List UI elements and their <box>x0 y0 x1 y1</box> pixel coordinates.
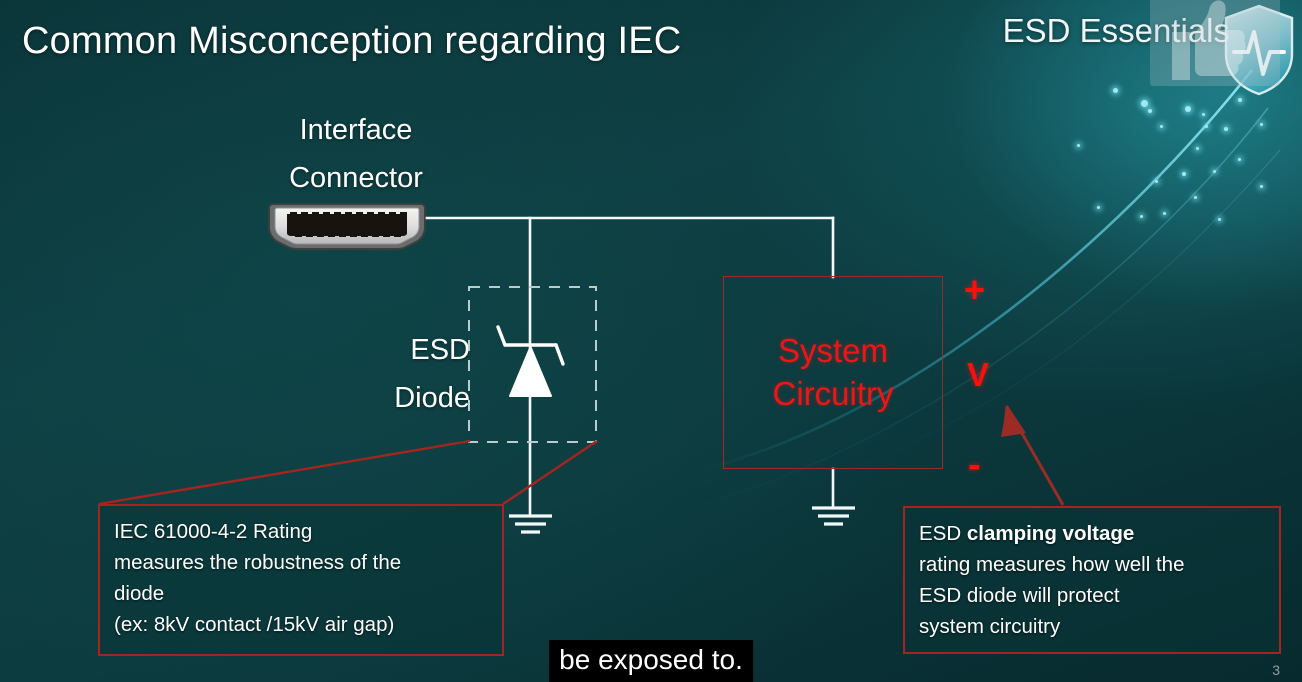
video-caption: be exposed to. <box>549 640 753 682</box>
system-line2: Circuitry <box>773 373 894 415</box>
callout-left-line4: (ex: 8kV contact /15kV air gap) <box>114 609 488 640</box>
slide-canvas: Common Misconception regarding IEC ESD E… <box>0 0 1302 682</box>
callout-right-line2: rating measures how well the <box>919 549 1265 580</box>
page-number: 3 <box>1272 662 1280 678</box>
polarity-minus-marker: - <box>968 446 981 484</box>
arrowhead <box>1001 405 1026 437</box>
callout-right-bold: clamping voltage <box>967 522 1134 545</box>
callout-clamping-voltage: ESD clamping voltage rating measures how… <box>903 506 1281 654</box>
callout-right-line3: ESD diode will protect <box>919 580 1265 611</box>
callout-left-line1: IEC 61000-4-2 Rating <box>114 516 488 547</box>
ground-symbol-icon <box>812 508 855 524</box>
callout-right-lead: ESD <box>919 522 967 545</box>
polarity-v-marker: V <box>967 358 989 391</box>
callout-right-line4: system circuitry <box>919 611 1265 642</box>
callout-left-line2: measures the robustness of the <box>114 547 488 578</box>
system-circuitry-box: System Circuitry <box>723 276 943 469</box>
ground-symbol-icon <box>509 516 552 532</box>
system-line1: System <box>778 330 888 372</box>
callout-right-line1: ESD clamping voltage <box>919 518 1265 549</box>
callout-left-line3: diode <box>114 578 488 609</box>
callout-iec-rating: IEC 61000-4-2 Rating measures the robust… <box>98 504 504 656</box>
polarity-plus-marker: + <box>964 272 985 308</box>
callout-left-leader-lines <box>99 441 597 504</box>
